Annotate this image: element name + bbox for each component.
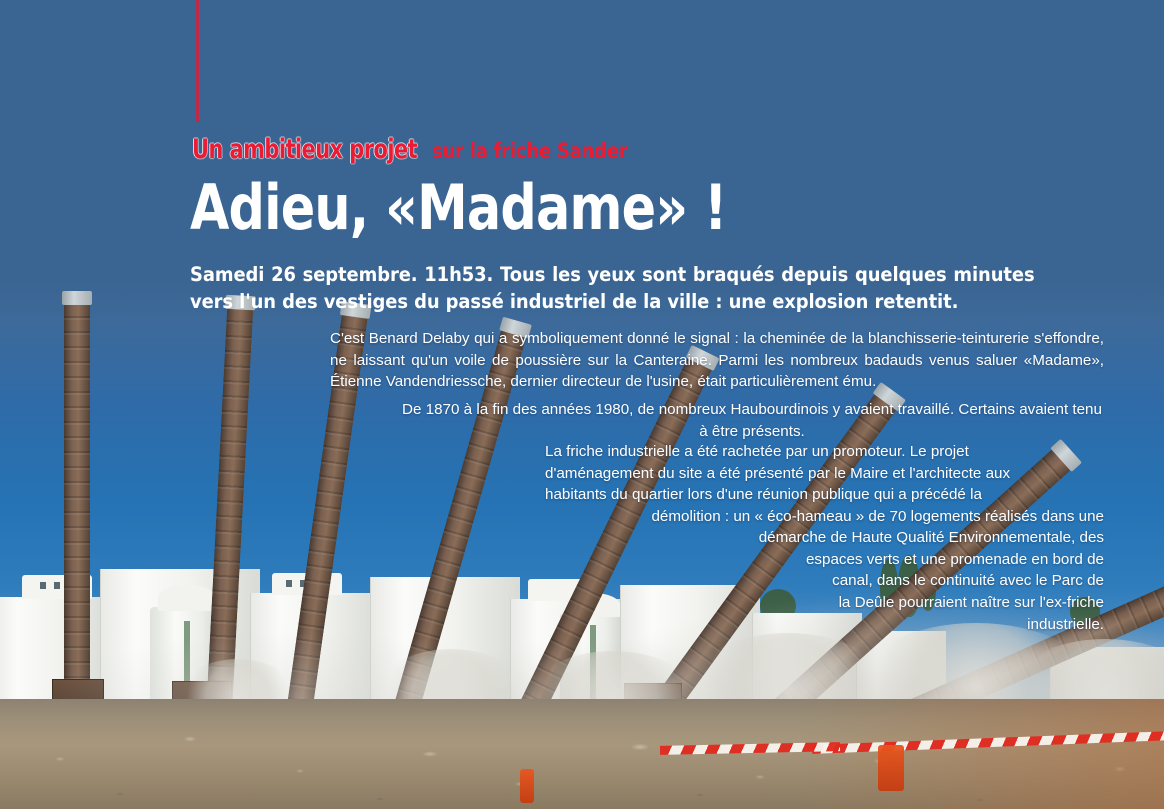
paragraph3-line: canal, dans le continuité avec le Parc d… — [545, 570, 1104, 592]
lead-paragraph: Samedi 26 septembre. 11h53. Tous les yeu… — [190, 262, 1035, 316]
paragraph3-line: démarche de Haute Qualité Environnementa… — [545, 527, 1104, 549]
paragraph3-line: la Deûle pourraient naître sur l'ex-fric… — [545, 592, 1104, 614]
kicker-sub: sur la friche Sander — [432, 141, 628, 162]
kicker-main: Un ambitieux projet — [192, 136, 417, 163]
paragraph3-line: industrielle. — [545, 614, 1104, 636]
kicker: Un ambitieux projet sur la friche Sander — [192, 136, 660, 163]
paragraph3-line: habitants du quartier lors d'une réunion… — [545, 484, 1104, 506]
paragraph3-line: La friche industrielle a été rachetée pa… — [545, 441, 1104, 463]
paragraph3-line: espaces verts et une promenade en bord d… — [545, 549, 1104, 571]
paragraph3-line: d'aménagement du site a été présenté par… — [545, 463, 1104, 485]
body-paragraph-2: De 1870 à la fin des années 1980, de nom… — [400, 399, 1104, 442]
page-title: Adieu, «Madame» ! — [190, 175, 727, 240]
magazine-page: Un ambitieux projet sur la friche Sander… — [0, 0, 1164, 809]
body-paragraph-3: La friche industrielle a été rachetée pa… — [545, 441, 1104, 635]
body-paragraph-1: C'est Benard Delaby qui a symboliquement… — [330, 328, 1104, 393]
paragraph3-line: démolition : un « éco-hameau » de 70 log… — [545, 506, 1104, 528]
article-text-layer: Un ambitieux projet sur la friche Sander… — [0, 0, 1164, 809]
accent-rule — [196, 0, 199, 122]
